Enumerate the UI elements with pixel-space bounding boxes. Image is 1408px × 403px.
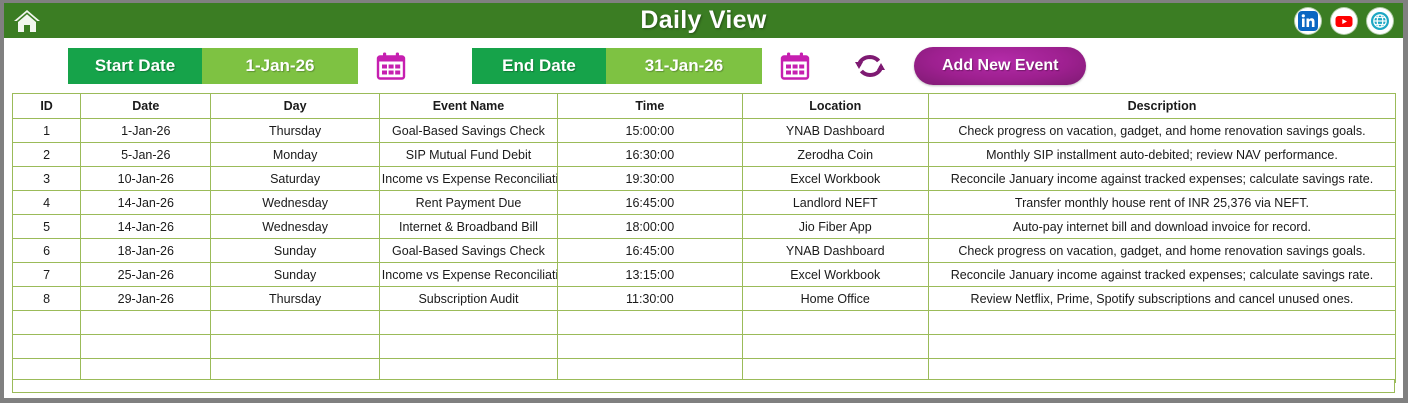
cell-day[interactable]: Thursday	[211, 119, 379, 143]
cell-date[interactable]: 14-Jan-26	[81, 191, 211, 215]
table-row[interactable]: 414-Jan-26WednesdayRent Payment Due16:45…	[13, 191, 1396, 215]
app-header: Daily View	[4, 3, 1403, 38]
table-row[interactable]: 25-Jan-26MondaySIP Mutual Fund Debit16:3…	[13, 143, 1396, 167]
cell-day[interactable]: Sunday	[211, 239, 379, 263]
cell-description[interactable]: Reconcile January income against tracked…	[928, 167, 1395, 191]
cell-empty[interactable]	[558, 311, 742, 335]
cell-date[interactable]: 10-Jan-26	[81, 167, 211, 191]
cell-empty[interactable]	[742, 311, 928, 335]
table-row[interactable]: 11-Jan-26ThursdayGoal-Based Savings Chec…	[13, 119, 1396, 143]
cell-location[interactable]: Landlord NEFT	[742, 191, 928, 215]
table-header-row: ID Date Day Event Name Time Location Des…	[13, 94, 1396, 119]
cell-date[interactable]: 29-Jan-26	[81, 287, 211, 311]
cell-description[interactable]: Monthly SIP installment auto-debited; re…	[928, 143, 1395, 167]
cell-day[interactable]: Sunday	[211, 263, 379, 287]
refresh-icon[interactable]	[850, 48, 890, 84]
table-row[interactable]: 514-Jan-26WednesdayInternet & Broadband …	[13, 215, 1396, 239]
cell-day[interactable]: Saturday	[211, 167, 379, 191]
cell-time[interactable]: 13:15:00	[558, 263, 742, 287]
cell-day[interactable]: Thursday	[211, 287, 379, 311]
social-links	[1295, 8, 1393, 34]
home-icon[interactable]	[12, 7, 42, 35]
cell-description[interactable]: Check progress on vacation, gadget, and …	[928, 119, 1395, 143]
cell-event-name[interactable]: Income vs Expense Reconciliation	[379, 263, 557, 287]
cell-id[interactable]: 3	[13, 167, 81, 191]
linkedin-icon[interactable]	[1295, 8, 1321, 34]
cell-description[interactable]: Reconcile January income against tracked…	[928, 263, 1395, 287]
column-header-time[interactable]: Time	[558, 94, 742, 119]
column-header-description[interactable]: Description	[928, 94, 1395, 119]
column-header-day[interactable]: Day	[211, 94, 379, 119]
cell-description[interactable]: Transfer monthly house rent of INR 25,37…	[928, 191, 1395, 215]
add-new-event-button[interactable]: Add New Event	[914, 47, 1086, 85]
column-header-id[interactable]: ID	[13, 94, 81, 119]
cell-date[interactable]: 1-Jan-26	[81, 119, 211, 143]
cell-empty[interactable]	[211, 311, 379, 335]
cell-date[interactable]: 14-Jan-26	[81, 215, 211, 239]
start-calendar-icon[interactable]	[374, 49, 408, 83]
website-icon[interactable]	[1367, 8, 1393, 34]
cell-location[interactable]: YNAB Dashboard	[742, 119, 928, 143]
cell-id[interactable]: 1	[13, 119, 81, 143]
daily-view-window: Daily View	[0, 0, 1408, 403]
cell-description[interactable]: Check progress on vacation, gadget, and …	[928, 239, 1395, 263]
table-row[interactable]: 618-Jan-26SundayGoal-Based Savings Check…	[13, 239, 1396, 263]
end-date-group: End Date 31-Jan-26	[472, 48, 762, 84]
column-header-event-name[interactable]: Event Name	[379, 94, 557, 119]
cell-time[interactable]: 16:45:00	[558, 239, 742, 263]
page-title: Daily View	[4, 6, 1403, 35]
cell-empty[interactable]	[13, 335, 81, 359]
cell-time[interactable]: 16:45:00	[558, 191, 742, 215]
cell-event-name[interactable]: Goal-Based Savings Check	[379, 239, 557, 263]
end-date-label: End Date	[472, 48, 606, 84]
cell-empty[interactable]	[379, 335, 557, 359]
cell-empty[interactable]	[81, 335, 211, 359]
cell-id[interactable]: 4	[13, 191, 81, 215]
cell-empty[interactable]	[558, 335, 742, 359]
cell-time[interactable]: 11:30:00	[558, 287, 742, 311]
filter-toolbar: Start Date 1-Jan-26 End Date 31-Jan-26	[4, 38, 1403, 93]
cell-description[interactable]: Auto-pay internet bill and download invo…	[928, 215, 1395, 239]
cell-description[interactable]: Review Netflix, Prime, Spotify subscript…	[928, 287, 1395, 311]
table-row-empty[interactable]	[13, 311, 1396, 335]
cell-id[interactable]: 8	[13, 287, 81, 311]
cell-time[interactable]: 18:00:00	[558, 215, 742, 239]
cell-location[interactable]: Home Office	[742, 287, 928, 311]
cell-id[interactable]: 6	[13, 239, 81, 263]
end-date-value[interactable]: 31-Jan-26	[606, 48, 762, 84]
cell-empty[interactable]	[211, 335, 379, 359]
cell-location[interactable]: YNAB Dashboard	[742, 239, 928, 263]
cell-empty[interactable]	[379, 311, 557, 335]
events-table-body: 11-Jan-26ThursdayGoal-Based Savings Chec…	[13, 119, 1396, 383]
start-date-value[interactable]: 1-Jan-26	[202, 48, 358, 84]
cell-empty[interactable]	[13, 311, 81, 335]
cell-id[interactable]: 2	[13, 143, 81, 167]
cell-time[interactable]: 16:30:00	[558, 143, 742, 167]
cell-date[interactable]: 5-Jan-26	[81, 143, 211, 167]
column-header-date[interactable]: Date	[81, 94, 211, 119]
cell-empty[interactable]	[928, 335, 1395, 359]
cell-location[interactable]: Excel Workbook	[742, 167, 928, 191]
grid-bottom-strip	[12, 379, 1395, 393]
cell-time[interactable]: 19:30:00	[558, 167, 742, 191]
table-row[interactable]: 310-Jan-26SaturdayIncome vs Expense Reco…	[13, 167, 1396, 191]
cell-id[interactable]: 5	[13, 215, 81, 239]
cell-empty[interactable]	[742, 335, 928, 359]
events-grid-container: ID Date Day Event Name Time Location Des…	[4, 93, 1403, 395]
cell-event-name[interactable]: Internet & Broadband Bill	[379, 215, 557, 239]
table-row[interactable]: 829-Jan-26ThursdaySubscription Audit11:3…	[13, 287, 1396, 311]
cell-location[interactable]: Excel Workbook	[742, 263, 928, 287]
column-header-location[interactable]: Location	[742, 94, 928, 119]
cell-id[interactable]: 7	[13, 263, 81, 287]
cell-event-name[interactable]: Goal-Based Savings Check	[379, 119, 557, 143]
cell-event-name[interactable]: Subscription Audit	[379, 287, 557, 311]
cell-day[interactable]: Wednesday	[211, 215, 379, 239]
table-row-empty[interactable]	[13, 335, 1396, 359]
cell-date[interactable]: 18-Jan-26	[81, 239, 211, 263]
end-calendar-icon[interactable]	[778, 49, 812, 83]
cell-event-name[interactable]: Rent Payment Due	[379, 191, 557, 215]
start-date-label: Start Date	[68, 48, 202, 84]
cell-event-name[interactable]: SIP Mutual Fund Debit	[379, 143, 557, 167]
cell-day[interactable]: Monday	[211, 143, 379, 167]
cell-empty[interactable]	[81, 311, 211, 335]
cell-time[interactable]: 15:00:00	[558, 119, 742, 143]
cell-location[interactable]: Zerodha Coin	[742, 143, 928, 167]
table-row[interactable]: 725-Jan-26SundayIncome vs Expense Reconc…	[13, 263, 1396, 287]
cell-event-name[interactable]: Income vs Expense Reconciliation	[379, 167, 557, 191]
cell-location[interactable]: Jio Fiber App	[742, 215, 928, 239]
cell-date[interactable]: 25-Jan-26	[81, 263, 211, 287]
youtube-icon[interactable]	[1331, 8, 1357, 34]
start-date-group: Start Date 1-Jan-26	[68, 48, 358, 84]
cell-day[interactable]: Wednesday	[211, 191, 379, 215]
events-table: ID Date Day Event Name Time Location Des…	[12, 93, 1396, 383]
cell-empty[interactable]	[928, 311, 1395, 335]
